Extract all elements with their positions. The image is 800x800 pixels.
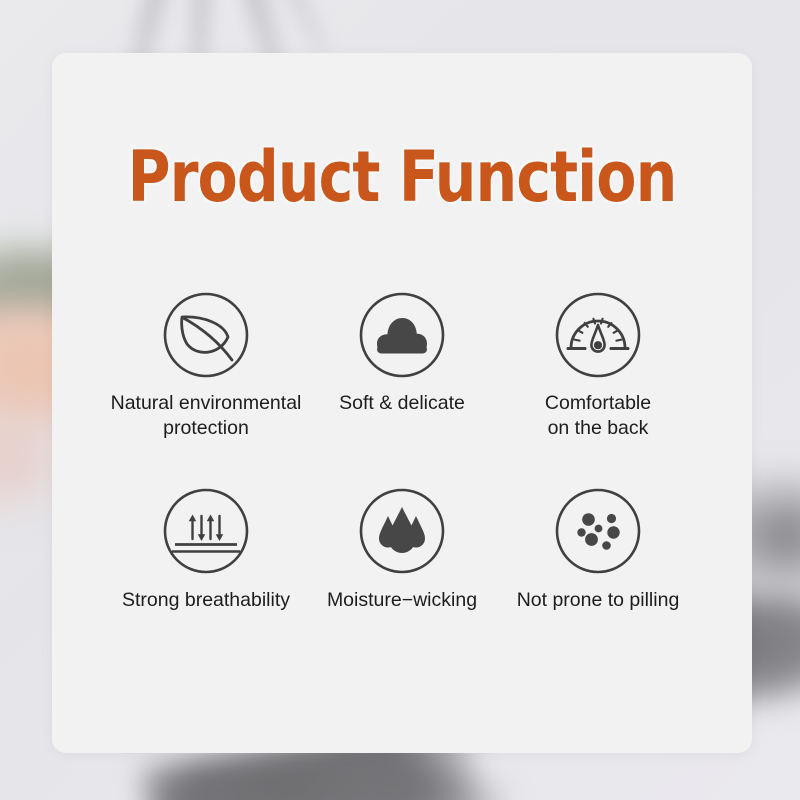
feature-grid: Natural environmental protection Soft & … xyxy=(82,291,722,613)
feature-row-1: Natural environmental protection Soft & … xyxy=(82,291,722,441)
feature-item-natural-environmental-protection: Natural environmental protection xyxy=(108,291,304,441)
gauge-icon xyxy=(554,291,642,379)
leaf-icon xyxy=(162,291,250,379)
feature-label: Strong breathability xyxy=(122,588,290,613)
feature-row-2: Strong breathability Moisture−wicking xyxy=(82,487,722,613)
feature-label: Moisture−wicking xyxy=(327,588,477,613)
feature-item-comfortable-on-the-back: Comfortable on the back xyxy=(500,291,696,441)
water-droplets-icon xyxy=(358,487,446,575)
content-card: Product Function Natural environmental p… xyxy=(52,53,752,753)
breathability-arrows-icon xyxy=(162,487,250,575)
feature-item-moisture-wicking: Moisture−wicking xyxy=(304,487,500,613)
feature-item-not-prone-to-pilling: Not prone to pilling xyxy=(500,487,696,613)
pilling-dots-icon xyxy=(554,487,642,575)
feature-item-strong-breathability: Strong breathability xyxy=(108,487,304,613)
infographic-stage: Product Function Natural environmental p… xyxy=(0,0,800,800)
feature-item-soft-delicate: Soft & delicate xyxy=(304,291,500,441)
feature-label: Comfortable on the back xyxy=(545,391,651,441)
feature-label: Natural environmental protection xyxy=(111,391,302,441)
page-title: Product Function xyxy=(77,136,728,218)
cloud-icon xyxy=(358,291,446,379)
feature-label: Not prone to pilling xyxy=(517,588,680,613)
feature-label: Soft & delicate xyxy=(339,391,465,416)
